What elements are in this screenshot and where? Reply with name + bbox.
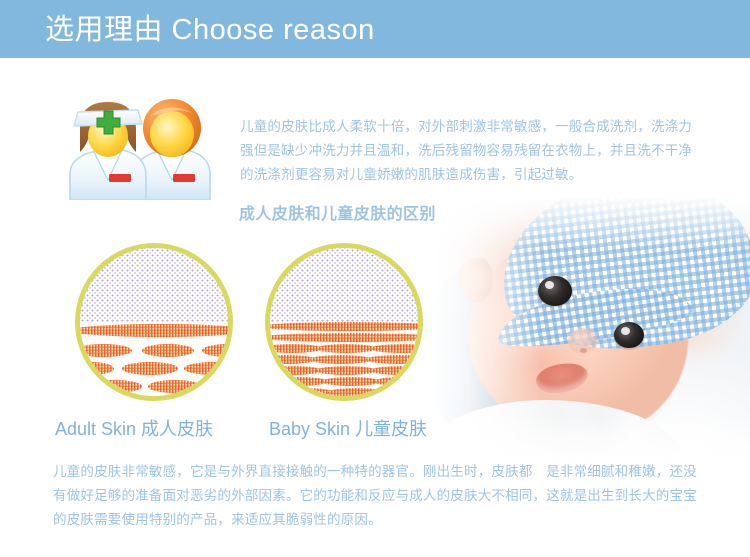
adult-skin-upper-layer — [80, 248, 228, 331]
baby-nostril — [580, 348, 587, 353]
adult-skin-cell-layer — [80, 322, 228, 396]
nurse-figure — [70, 102, 146, 200]
section-subheading: 成人皮肤和儿童皮肤的区别 — [239, 203, 436, 227]
baby-eye-left — [538, 276, 572, 306]
doctor-figure — [136, 99, 210, 200]
baby-eye-right — [614, 322, 644, 348]
photo-fade-bottom — [432, 416, 750, 462]
baby-photo — [432, 196, 750, 462]
adult-skin-diagram — [75, 243, 233, 401]
baby-skin-diagram — [265, 243, 423, 401]
page-title: 选用理由 Choose reason — [45, 11, 375, 49]
closing-paragraph: 儿童的皮肤非常敏感，它是与外界直接接触的一种特的器官。刚出生时，皮肤都 是非常细… — [53, 460, 703, 532]
baby-skin-upper-layer — [270, 248, 418, 331]
nurse-and-doctor-icon — [58, 88, 230, 200]
intro-paragraph: 儿童的皮肤比成人柔软十倍，对外部刺激非常敏感，一般合成洗剂，洗涤力强但是缺少冲洗… — [240, 115, 700, 187]
adult-skin-label: Adult Skin 成人皮肤 — [55, 416, 213, 442]
baby-skin-cell-layer — [270, 322, 418, 396]
baby-skin-label: Baby Skin 儿童皮肤 — [269, 416, 427, 442]
promo-page: 选用理由 Choose reason — [0, 0, 750, 557]
